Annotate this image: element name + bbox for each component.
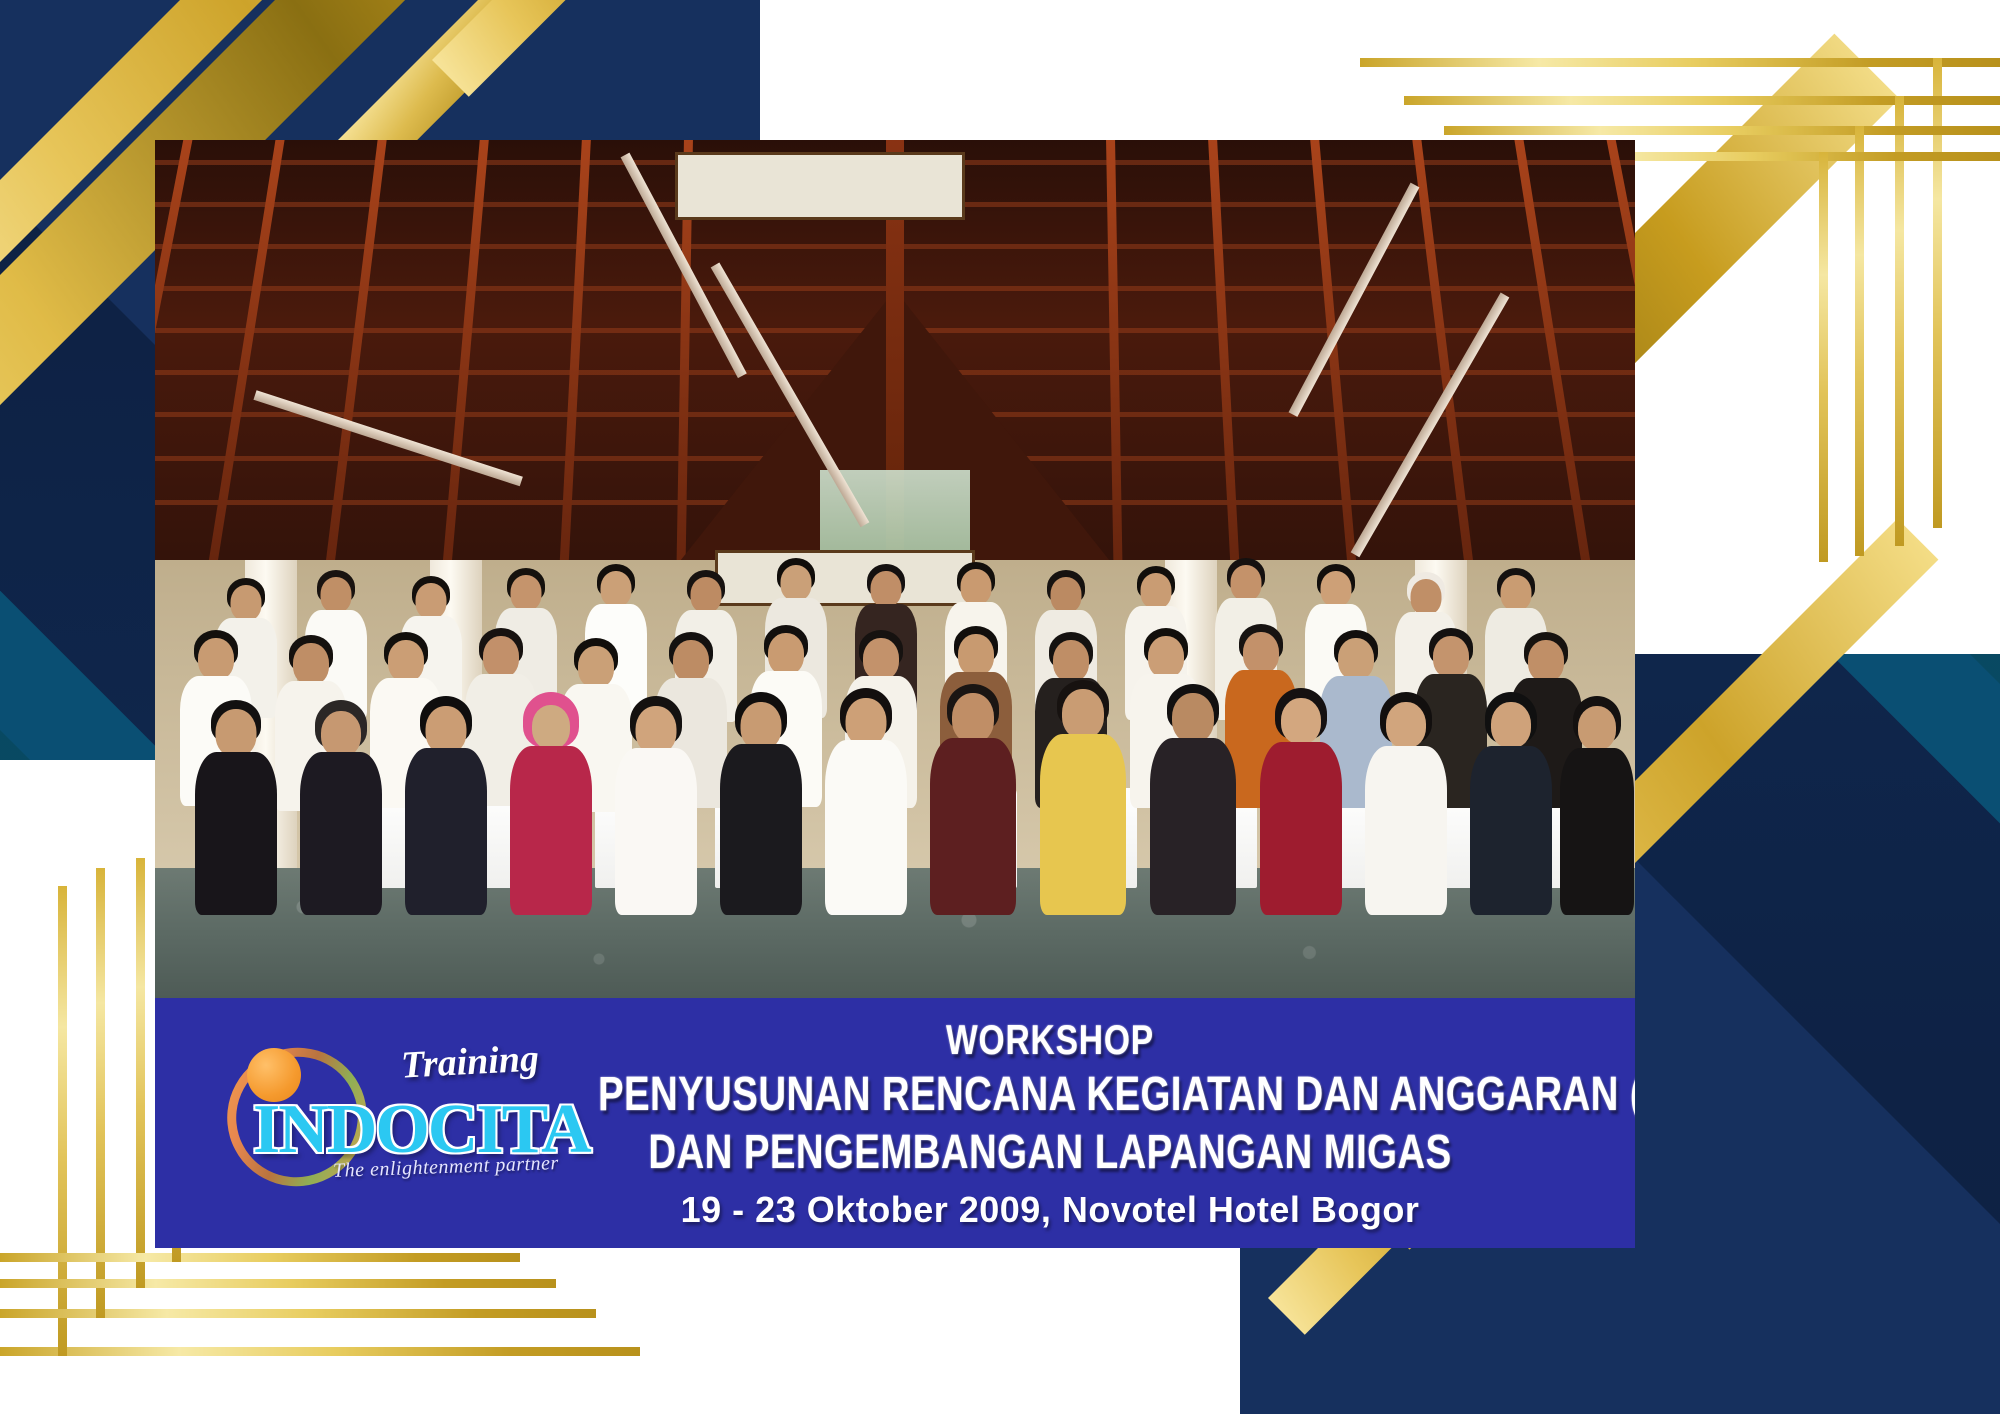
gold-line-h <box>1360 58 2000 67</box>
torso <box>300 752 382 915</box>
gold-line-h <box>0 1253 520 1262</box>
torso <box>1365 746 1447 915</box>
head <box>1051 577 1082 613</box>
head <box>426 706 467 754</box>
torso <box>1150 738 1236 915</box>
participant-seated-vip <box>930 684 1016 915</box>
roof-rafter <box>188 140 294 590</box>
head <box>578 646 614 688</box>
torso <box>510 746 592 915</box>
torso <box>615 748 697 915</box>
head <box>1386 702 1426 748</box>
banner-title-line-1: PENYUSUNAN RENCANA KEGIATAN DAN ANGGARAN… <box>598 1066 1502 1124</box>
wall-notice-board <box>715 550 975 606</box>
head <box>293 643 329 685</box>
gold-line-v <box>1855 126 1864 556</box>
workshop-group-photo <box>155 140 1635 998</box>
head <box>532 705 570 749</box>
banner-eyebrow: WORKSHOP <box>598 1014 1502 1066</box>
head <box>781 565 812 601</box>
head <box>1053 640 1089 682</box>
head <box>1148 636 1184 678</box>
banner-title-line-2: DAN PENGEMBANGAN LAPANGAN MIGAS <box>598 1124 1502 1182</box>
head <box>1528 640 1564 682</box>
event-photo-card: Training INDOCITA The enlightenment part… <box>155 140 1635 1248</box>
participant-seated <box>300 700 382 915</box>
participant-seated <box>1260 688 1342 915</box>
joglo-roof <box>155 140 1635 590</box>
banner-text-block: WORKSHOP PENYUSUNAN RENCANA KEGIATAN DAN… <box>485 1014 1615 1238</box>
head <box>321 577 352 613</box>
participant-seated <box>825 688 907 915</box>
torso <box>1560 748 1634 915</box>
head <box>1141 573 1172 609</box>
head <box>1281 698 1321 744</box>
banner-date-venue: 19 - 23 Oktober 2009, Novotel Hotel Bogo… <box>485 1182 1615 1238</box>
torso <box>195 752 277 915</box>
head <box>741 702 782 750</box>
roof-rafter <box>1205 140 1246 590</box>
head <box>961 569 992 605</box>
participant-seated <box>1560 696 1634 915</box>
torso <box>930 738 1016 915</box>
head <box>1433 636 1469 678</box>
roof-rafter <box>155 140 204 590</box>
roof-rafter <box>431 140 494 590</box>
participant-seated <box>1470 692 1552 915</box>
gold-line-v <box>1895 96 1904 546</box>
participant-seated-vip <box>1150 684 1236 915</box>
head <box>483 636 519 678</box>
torso <box>825 740 907 915</box>
head <box>1172 693 1214 743</box>
torso <box>1260 742 1342 915</box>
head <box>388 640 424 682</box>
poster-canvas: Training INDOCITA The enlightenment part… <box>0 0 2000 1414</box>
roof-rafter <box>1595 140 1635 590</box>
torso <box>1470 746 1552 915</box>
roof-rafter <box>553 140 594 590</box>
head <box>511 575 542 611</box>
head <box>768 633 804 675</box>
gold-line-v <box>1933 58 1942 528</box>
gold-line-h <box>1444 126 2000 135</box>
head <box>691 577 722 613</box>
head <box>1338 638 1374 680</box>
gold-line-v <box>58 886 67 1356</box>
gold-line-v <box>1819 152 1828 562</box>
gold-line-v <box>96 868 105 1318</box>
head <box>1321 571 1352 607</box>
white-purlin <box>1289 183 1420 417</box>
gold-line-h <box>0 1309 596 1318</box>
participant-seated <box>405 696 487 915</box>
head <box>416 583 447 619</box>
gold-line-h <box>1404 96 2000 105</box>
head <box>1062 689 1104 739</box>
participant-seated-vip <box>1040 680 1126 915</box>
participant-seated <box>510 692 592 915</box>
head <box>958 634 994 676</box>
head <box>198 638 234 680</box>
gold-line-v <box>136 858 145 1288</box>
roof-rafter <box>1405 140 1489 590</box>
hanging-signboard <box>675 152 965 220</box>
gold-line-h <box>0 1279 556 1288</box>
head <box>636 706 677 754</box>
head <box>846 698 887 746</box>
head <box>1243 632 1279 674</box>
torso <box>1040 734 1126 915</box>
gold-diagonal-bar-tl-4 <box>432 0 681 97</box>
gold-line-h <box>0 1347 640 1356</box>
head <box>1411 579 1442 615</box>
head <box>871 571 902 607</box>
participant-seated <box>195 700 277 915</box>
participant-seated <box>615 696 697 915</box>
head <box>1501 575 1532 611</box>
head <box>952 693 994 743</box>
head <box>1491 702 1531 748</box>
head <box>321 711 361 757</box>
white-purlin <box>253 390 522 486</box>
event-title-banner: Training INDOCITA The enlightenment part… <box>155 998 1635 1248</box>
head <box>1578 706 1616 750</box>
roof-rafter <box>309 140 393 590</box>
head <box>216 709 257 757</box>
torso <box>405 748 487 915</box>
head <box>863 638 899 680</box>
head <box>673 640 709 682</box>
head <box>601 571 632 607</box>
participant-seated <box>720 692 802 915</box>
roof-rafter <box>1505 140 1611 590</box>
head <box>1231 565 1262 601</box>
head <box>231 585 262 621</box>
participant-seated <box>1365 692 1447 915</box>
torso <box>720 744 802 915</box>
